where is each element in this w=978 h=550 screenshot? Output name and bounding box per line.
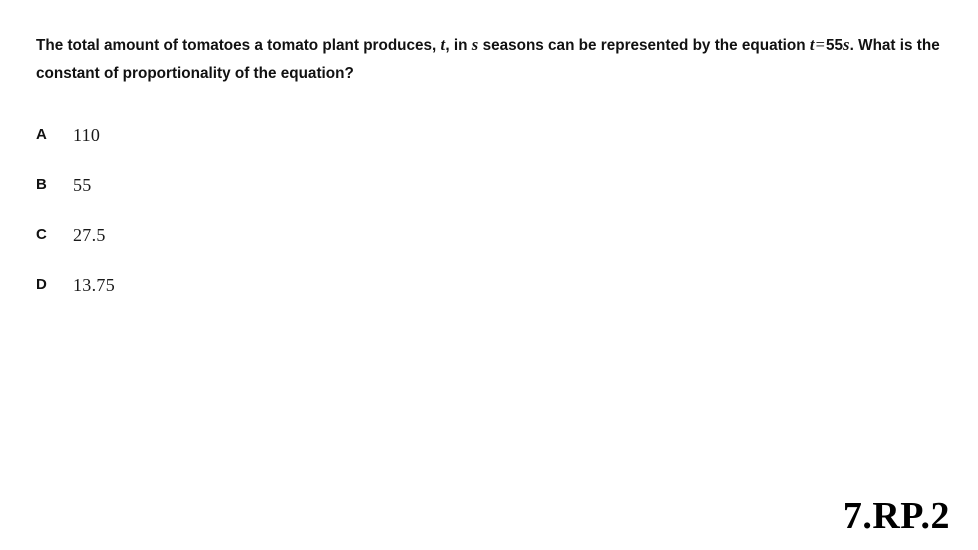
answer-choice-value: 110 bbox=[73, 110, 100, 160]
answer-choice-letter: D bbox=[36, 260, 58, 310]
answer-choice-list: A 110 B 55 C 27.5 D 13.75 bbox=[36, 110, 436, 310]
equation-variable-t: t bbox=[810, 35, 815, 54]
equation-coefficient: 55 bbox=[826, 37, 843, 54]
question-stem: The total amount of tomatoes a tomato pl… bbox=[36, 31, 952, 88]
answer-choice-letter: A bbox=[36, 110, 58, 160]
answer-choice-value: 27.5 bbox=[73, 210, 106, 260]
equation-variable-s: s bbox=[843, 35, 850, 54]
answer-choice-value: 13.75 bbox=[73, 260, 115, 310]
answer-choice-a[interactable]: A 110 bbox=[36, 110, 436, 160]
question-line2-text-part1: the equation bbox=[715, 37, 810, 54]
answer-choice-letter: B bbox=[36, 160, 58, 210]
answer-choice-d[interactable]: D 13.75 bbox=[36, 260, 436, 310]
equation-equals-sign: = bbox=[815, 35, 826, 54]
question-line1-text-part3: seasons can be represented by bbox=[478, 37, 710, 54]
question-line1-text-part2: , in bbox=[445, 37, 471, 54]
question-line1-text-part1: The total amount of tomatoes a tomato pl… bbox=[36, 37, 441, 54]
standard-code-label: 7.RP.2 bbox=[843, 496, 950, 536]
answer-choice-b[interactable]: B 55 bbox=[36, 160, 436, 210]
worksheet-page: The total amount of tomatoes a tomato pl… bbox=[0, 0, 978, 550]
answer-choice-c[interactable]: C 27.5 bbox=[36, 210, 436, 260]
answer-choice-letter: C bbox=[36, 210, 58, 260]
answer-choice-value: 55 bbox=[73, 160, 92, 210]
